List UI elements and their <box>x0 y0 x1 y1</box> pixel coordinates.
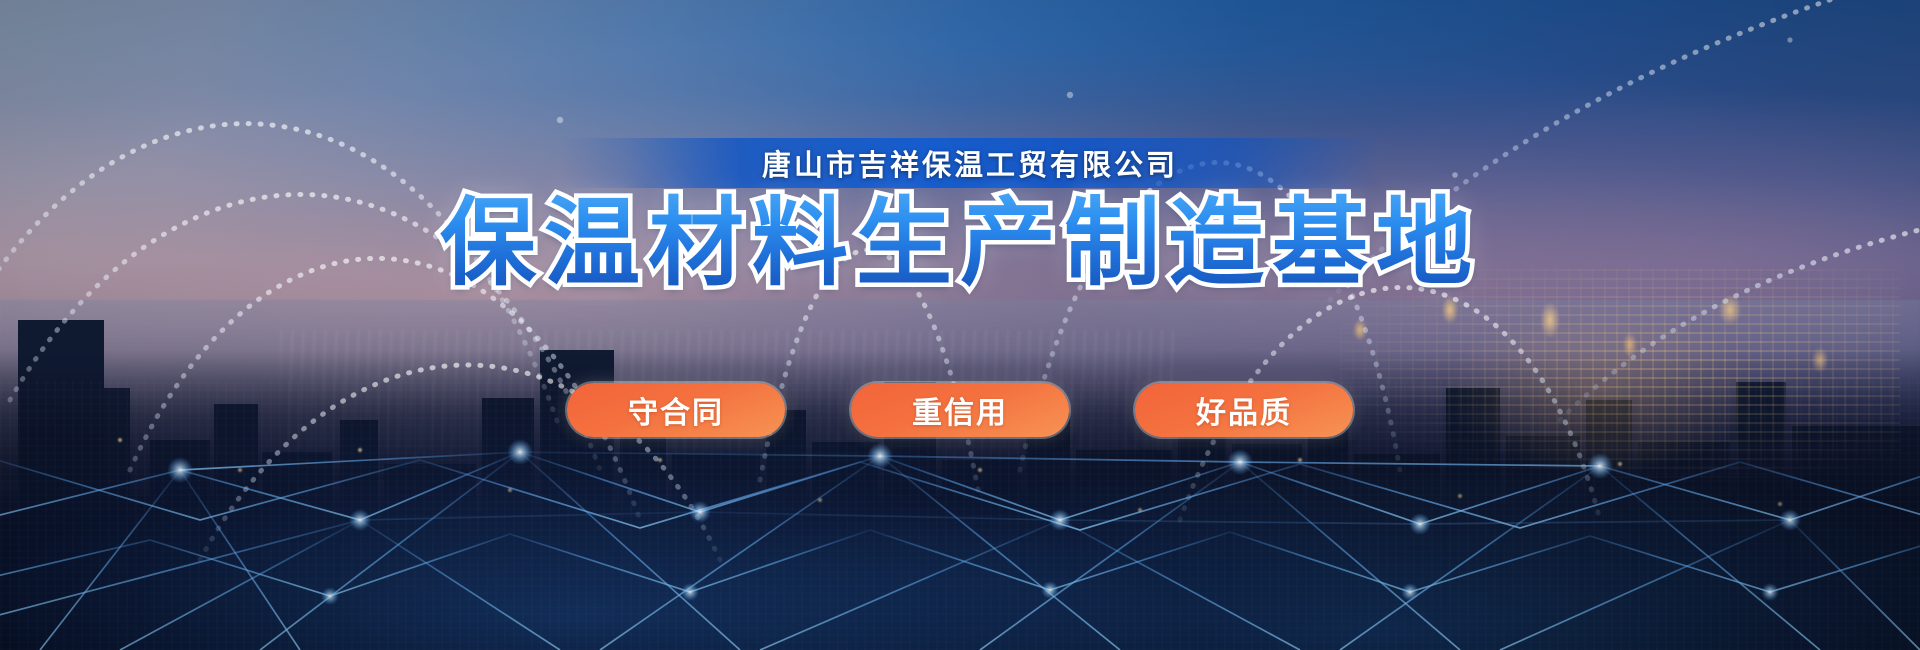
badge-label: 守合同 <box>628 388 724 432</box>
badge-keep-contract[interactable]: 守合同 <box>567 383 785 437</box>
badge-value-credit[interactable]: 重信用 <box>851 383 1069 437</box>
badge-label: 好品质 <box>1196 388 1292 432</box>
badge-good-quality[interactable]: 好品质 <box>1135 383 1353 437</box>
company-name-band: 唐山市吉祥保温工贸有限公司 <box>560 138 1380 188</box>
headline: 保温材料生产制造基地 <box>0 186 1920 301</box>
badge-label: 重信用 <box>912 388 1008 432</box>
badge-row: 守合同 重信用 好品质 <box>0 383 1920 437</box>
hero-banner: 唐山市吉祥保温工贸有限公司 保温材料生产制造基地 保温材料生产制造基地 守合同 … <box>0 0 1920 650</box>
company-name: 唐山市吉祥保温工贸有限公司 <box>762 142 1178 184</box>
banner-content: 唐山市吉祥保温工贸有限公司 保温材料生产制造基地 保温材料生产制造基地 守合同 … <box>0 0 1920 650</box>
